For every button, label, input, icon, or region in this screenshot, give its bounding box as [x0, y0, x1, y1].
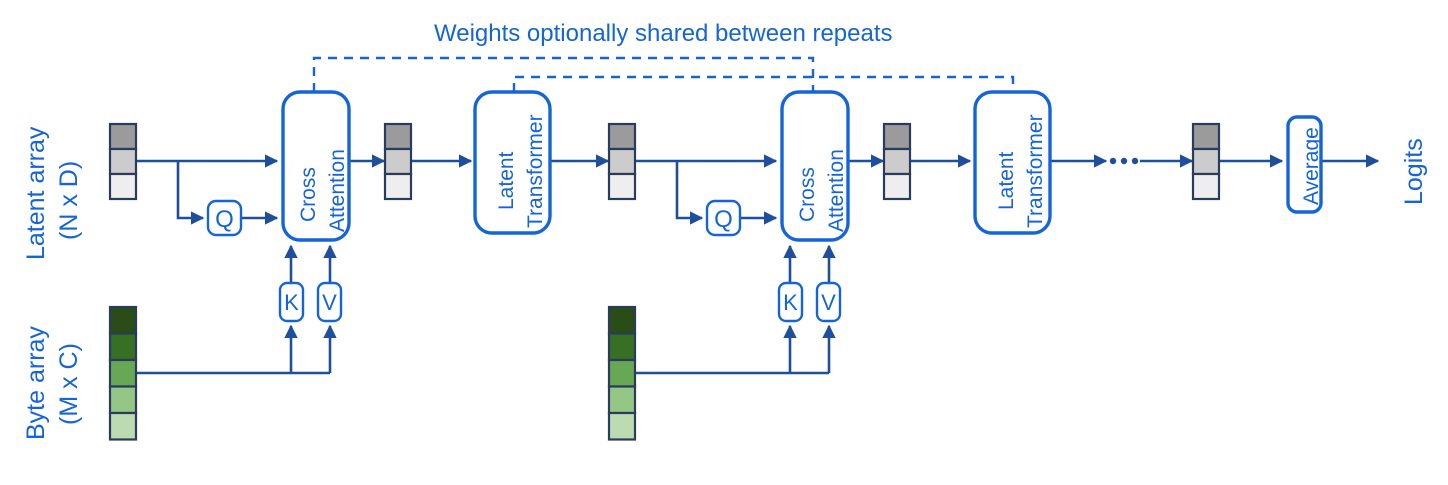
cross-attention-1-label-line2: Attention — [326, 149, 350, 232]
weight-sharing-bridges — [314, 58, 1013, 92]
q-1-label: Q — [208, 206, 241, 234]
average-label: Average — [1300, 127, 1324, 205]
byte-array-1 — [110, 307, 136, 440]
arrow-latent3-to-q2 — [677, 161, 702, 218]
latent-array-2 — [385, 124, 411, 199]
logits-label: Logits — [1400, 138, 1429, 205]
cross-attention-2-label-line1: Cross — [796, 167, 820, 222]
latent-array-label-line2: (N x D) — [55, 161, 84, 240]
k-2-label: K — [779, 290, 802, 316]
latent-transformer-2-label-line2: Transformer — [1024, 114, 1048, 228]
q-2-label: Q — [707, 206, 740, 234]
latent-array-5 — [1193, 124, 1219, 199]
weight-sharing-note: Weights optionally shared between repeat… — [434, 20, 893, 48]
latent-array-input — [110, 124, 136, 199]
byte-array-label-line2: (M x C) — [55, 343, 84, 425]
ellipsis-icon — [1110, 158, 1138, 164]
latent-transformer-1-label-line1: Latent — [495, 152, 519, 210]
diagram-canvas — [0, 0, 1448, 485]
cross-attention-1-label-line1: Cross — [297, 167, 321, 222]
arrow-latent1-to-q1 — [178, 161, 203, 218]
byte-array-2 — [609, 307, 635, 440]
latent-array-label-line1: Latent array — [22, 127, 51, 260]
bridge-latent-transformer — [514, 77, 1013, 92]
latent-array-4 — [884, 124, 910, 199]
v-1-label: V — [318, 290, 341, 316]
latent-transformer-1-label-line2: Transformer — [524, 114, 548, 228]
byte-array-label-line1: Byte array — [22, 326, 51, 440]
k-1-label: K — [280, 290, 303, 316]
cross-attention-2-label-line2: Attention — [825, 149, 849, 232]
perceiver-architecture-diagram: Weights optionally shared between repeat… — [0, 0, 1448, 485]
bridge-cross-attention — [314, 58, 813, 92]
latent-array-3 — [609, 124, 635, 199]
v-2-label: V — [817, 290, 840, 316]
latent-transformer-2-label-line1: Latent — [995, 152, 1019, 210]
